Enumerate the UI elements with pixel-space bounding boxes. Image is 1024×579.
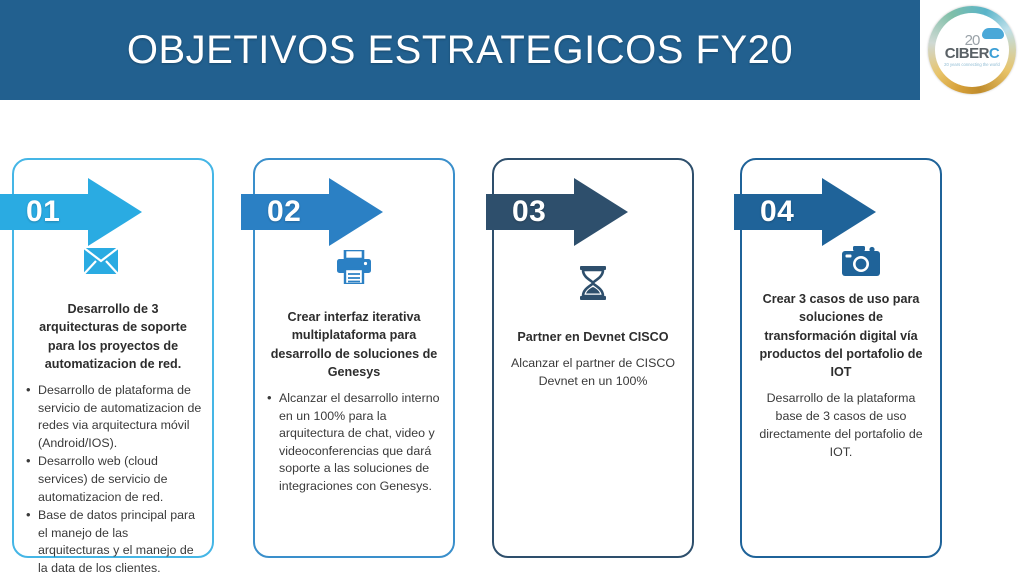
right-arrow-icon [0,178,142,246]
list-item: Base de datos principal para el manejo d… [24,507,202,577]
card-body-04: Crear 3 casos de uso para soluciones de … [742,290,940,462]
arrow-banner-03: 03 [486,178,628,246]
objective-number-04: 04 [760,195,794,229]
objective-card-04[interactable]: 04 Crear 3 casos de uso para soluciones … [740,158,942,558]
right-arrow-icon [241,178,383,246]
card-body-01: Desarrollo de 3 arquitecturas de soporte… [14,300,212,579]
card-icon-02 [255,250,453,284]
header-bar: OBJETIVOS ESTRATEGICOS FY20 [0,0,920,100]
list-item: Desarrollo de plataforma de servicio de … [24,382,202,452]
page-title: OBJETIVOS ESTRATEGICOS FY20 [0,0,920,100]
list-item: Desarrollo web (cloud services) de servi… [24,453,202,506]
card-heading-02: Crear interfaz iterativa multiplataforma… [265,308,443,381]
logo-name-secondary: C [989,45,999,62]
card-heading-04: Crear 3 casos de uso para soluciones de … [752,290,930,381]
objective-number-02: 02 [267,195,301,229]
right-arrow-icon [734,178,876,246]
camera-icon [842,246,880,276]
right-arrow-icon [486,178,628,246]
company-logo: 20 CIBERC 20 years connecting the world [928,6,1016,94]
list-item: Alcanzar el desarrollo interno en un 100… [265,390,443,496]
card-bullets-02: Alcanzar el desarrollo interno en un 100… [265,390,443,496]
card-body-02: Crear interfaz iterativa multiplataforma… [255,308,453,497]
objective-card-01[interactable]: 01 Desarrollo de 3 arquitecturas de sopo… [12,158,214,558]
card-body-03: Partner en Devnet CISCO Alcanzar el part… [494,328,692,391]
logo-tagline: 20 years connecting the world [944,63,1000,67]
card-subtext-04: Desarrollo de la plataforma base de 3 ca… [752,390,930,462]
objective-number-03: 03 [512,195,546,229]
card-heading-03: Partner en Devnet CISCO [504,328,682,346]
logo-wordmark: CIBERC [945,46,1000,61]
card-bullets-01: Desarrollo de plataforma de servicio de … [24,382,202,578]
arrow-banner-02: 02 [241,178,383,246]
objective-number-01: 01 [26,195,60,229]
objectives-card-row: 01 Desarrollo de 3 arquitecturas de sopo… [0,158,1024,562]
arrow-banner-01: 01 [0,178,142,246]
card-icon-04 [742,246,1024,276]
hourglass-icon [579,266,607,300]
card-subtext-03: Alcanzar el partner de CISCO Devnet en u… [504,355,682,391]
logo-name-primary: CIBER [945,45,989,62]
card-heading-01: Desarrollo de 3 arquitecturas de soporte… [24,300,202,373]
logo-inner: 20 CIBERC 20 years connecting the world [935,13,1009,87]
cloud-icon [982,28,1004,39]
card-icon-01 [14,248,282,274]
objective-card-02[interactable]: 02 Crear interfaz iterativa multiplatafo… [253,158,455,558]
arrow-banner-04: 04 [734,178,876,246]
printer-icon [336,250,372,284]
envelope-icon [84,248,118,274]
objective-card-03[interactable]: 03 Partner en Devnet CISCO Alcanzar el p… [492,158,694,558]
card-icon-03 [494,266,692,300]
